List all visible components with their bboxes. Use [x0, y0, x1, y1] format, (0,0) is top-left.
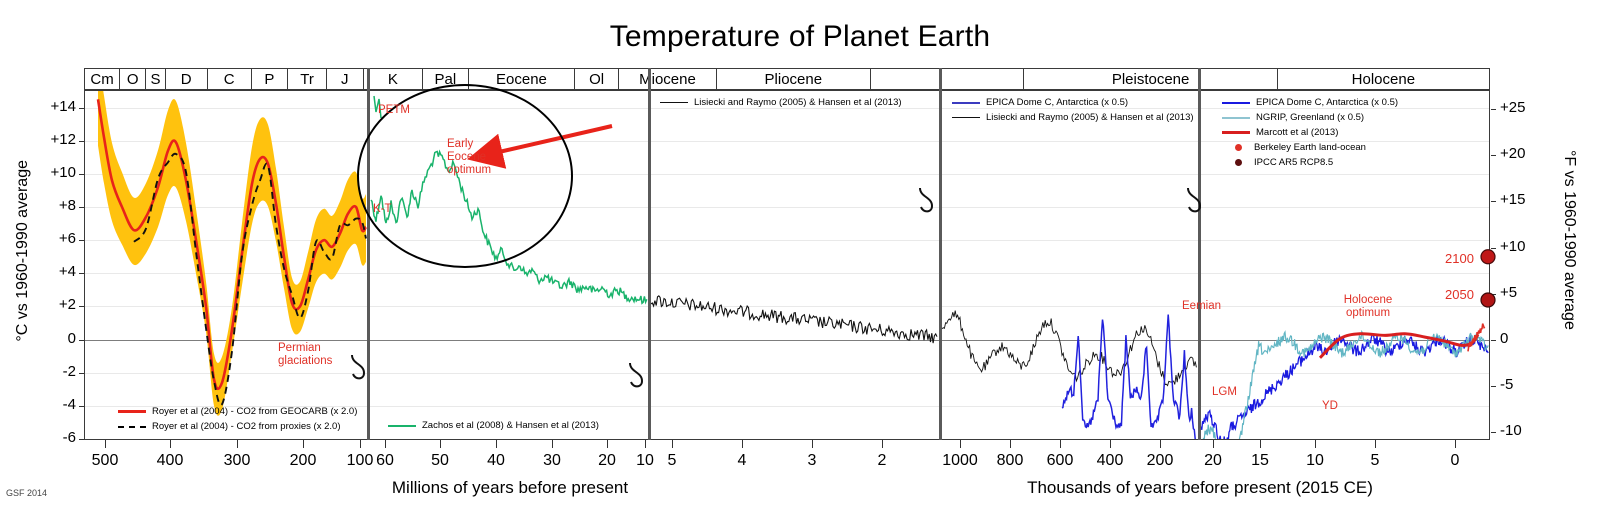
legend-item: Lisiecki and Raymo (2005) & Hansen et al… — [660, 96, 902, 109]
y-axis-left-title: °C vs 1960-1990 average — [14, 160, 32, 342]
x-tick-label: 2 — [859, 452, 905, 470]
y-tick-left: +6 — [30, 230, 76, 247]
y-tick-right: +5 — [1500, 284, 1550, 301]
gridline — [85, 240, 1489, 241]
tick-mark — [1491, 386, 1496, 387]
chart-root: Temperature of Planet Earth CmOSDCPTrJKP… — [0, 0, 1600, 516]
tick-mark — [79, 306, 84, 307]
legend-item: Marcott et al (2013) — [1222, 126, 1398, 139]
era-label-cm: Cm — [85, 69, 120, 89]
legend-item: Lisiecki and Raymo (2005) & Hansen et al… — [952, 111, 1194, 124]
y-tick-right: +20 — [1500, 145, 1550, 162]
x-tick-label: 600 — [1037, 452, 1083, 470]
tick-mark — [1315, 440, 1316, 448]
y-tick-left: +8 — [30, 197, 76, 214]
y-tick-left: -2 — [30, 363, 76, 380]
tick-mark — [1491, 155, 1496, 156]
y-tick-left: 0 — [30, 330, 76, 347]
legend-swatch-line-icon — [118, 410, 146, 413]
tick-mark — [1160, 440, 1161, 448]
tick-mark — [79, 108, 84, 109]
era-label-pleistocene: Pleistocene — [1024, 69, 1277, 89]
x-axis-label-right: Thousands of years before present (2015 … — [900, 478, 1500, 498]
tick-mark — [1491, 340, 1496, 341]
y-tick-right: -5 — [1500, 376, 1550, 393]
tick-mark — [79, 340, 84, 341]
era-label-o: O — [120, 69, 146, 89]
x-tick-label: 5 — [1352, 452, 1398, 470]
legend-swatch-line-icon — [952, 102, 980, 104]
tick-mark — [1213, 440, 1214, 448]
y-tick-left: +12 — [30, 131, 76, 148]
era-label-s: S — [146, 69, 165, 89]
tick-mark — [1375, 440, 1376, 448]
x-tick-label: 50 — [417, 452, 463, 470]
x-tick-label: 30 — [529, 452, 575, 470]
tick-mark — [1491, 248, 1496, 249]
x-tick-label: 0 — [1432, 452, 1478, 470]
legend-item: Zachos et al (2008) & Hansen et al (2013… — [388, 419, 599, 432]
legend-swatch-line-icon — [388, 425, 416, 427]
legend-label: Lisiecki and Raymo (2005) & Hansen et al… — [986, 111, 1194, 124]
panel-separator — [367, 68, 370, 440]
legend-label: Royer et al (2004) - CO2 from proxies (x… — [152, 420, 340, 433]
x-tick-label: 4 — [719, 452, 765, 470]
tick-mark — [496, 440, 497, 448]
tick-mark — [882, 440, 883, 448]
legend-swatch-dot-icon — [1235, 159, 1242, 166]
tick-mark — [1455, 440, 1456, 448]
gridline — [85, 207, 1489, 208]
legend-label: NGRIP, Greenland (x 0.5) — [1256, 111, 1364, 124]
tick-mark — [440, 440, 441, 448]
annotation-lgm: LGM — [1212, 386, 1237, 399]
annotation-projection-2100: 2100 — [1445, 252, 1474, 265]
tick-mark — [79, 406, 84, 407]
legend-swatch-line-icon — [1222, 117, 1250, 119]
tick-mark — [960, 440, 961, 448]
x-tick-label: 10 — [1292, 452, 1338, 470]
tick-mark — [552, 440, 553, 448]
era-label-pliocene: Pliocene — [717, 69, 871, 89]
zero-line — [85, 340, 1489, 341]
era-label-miocene: Miocene — [619, 69, 717, 89]
legend-cenozoic: Zachos et al (2008) & Hansen et al (2013… — [388, 419, 599, 434]
era-label-k: K — [364, 69, 423, 89]
gridline — [85, 273, 1489, 274]
y-tick-right: +15 — [1500, 191, 1550, 208]
y-tick-left: -6 — [30, 429, 76, 446]
y-tick-left: -4 — [30, 396, 76, 413]
era-spacer — [871, 69, 1025, 89]
tick-mark — [1491, 294, 1496, 295]
x-axis-label-left: Millions of years before present — [210, 478, 810, 498]
tick-mark — [105, 440, 106, 448]
page-title: Temperature of Planet Earth — [0, 20, 1600, 54]
panel-separator — [939, 68, 942, 440]
x-tick-label: 200 — [280, 452, 326, 470]
legend-item: EPICA Dome C, Antarctica (x 0.5) — [952, 96, 1194, 109]
x-tick-label: 200 — [1137, 452, 1183, 470]
era-label-holocene: Holocene — [1278, 69, 1489, 89]
legend-swatch-dot-icon — [1235, 144, 1242, 151]
era-label-d: D — [166, 69, 208, 89]
legend-label: EPICA Dome C, Antarctica (x 0.5) — [986, 96, 1128, 109]
tick-mark — [79, 439, 84, 440]
legend-pliocene: Lisiecki and Raymo (2005) & Hansen et al… — [660, 96, 902, 111]
tick-mark — [645, 440, 646, 448]
annotation-yd: YD — [1322, 400, 1338, 413]
tick-mark — [1491, 432, 1496, 433]
x-tick-label: 5 — [649, 452, 695, 470]
x-tick-label: 3 — [789, 452, 835, 470]
tick-mark — [1260, 440, 1261, 448]
gridline — [85, 306, 1489, 307]
era-label-tr: Tr — [288, 69, 327, 89]
legend-item: Royer et al (2004) - CO2 from GEOCARB (x… — [118, 405, 357, 418]
tick-mark — [79, 174, 84, 175]
tick-mark — [237, 440, 238, 448]
era-label-p: P — [252, 69, 289, 89]
era-label-j: J — [327, 69, 364, 89]
annotation-kt-boundary: K-T — [373, 203, 392, 216]
y-tick-right: +10 — [1500, 238, 1550, 255]
panel-separator — [648, 68, 651, 440]
annotation-holocene-optimum: Holocene optimum — [1341, 294, 1395, 320]
legend-pleistocene: EPICA Dome C, Antarctica (x 0.5) Lisieck… — [952, 96, 1194, 126]
x-tick-label: 500 — [82, 452, 128, 470]
tick-mark — [1110, 440, 1111, 448]
annotation-petm: PETM — [378, 104, 410, 117]
y-tick-left: +4 — [30, 263, 76, 280]
legend-swatch-dashed-icon — [118, 426, 146, 428]
legend-label: IPCC AR5 RCP8.5 — [1254, 156, 1333, 169]
legend-label: EPICA Dome C, Antarctica (x 0.5) — [1256, 96, 1398, 109]
legend-phanerozoic: Royer et al (2004) - CO2 from GEOCARB (x… — [118, 405, 357, 435]
x-tick-label: 15 — [1237, 452, 1283, 470]
legend-swatch-line-icon — [660, 102, 688, 103]
y-tick-left: +14 — [30, 98, 76, 115]
x-tick-label: 800 — [987, 452, 1033, 470]
legend-item: Royer et al (2004) - CO2 from proxies (x… — [118, 420, 357, 433]
y-axis-right-title: °F vs 1960-1990 average — [1560, 150, 1578, 330]
tick-mark — [79, 207, 84, 208]
annotation-permian-glaciations: Permian glaciations — [278, 342, 342, 368]
annotation-projection-2050: 2050 — [1445, 288, 1474, 301]
credit-text: GSF 2014 — [6, 488, 47, 498]
panel-separator — [1198, 68, 1201, 440]
tick-mark — [79, 273, 84, 274]
tick-mark — [607, 440, 608, 448]
legend-label: Berkeley Earth land-ocean — [1254, 141, 1366, 154]
era-label-c: C — [208, 69, 252, 89]
legend-swatch-line-icon — [952, 117, 980, 118]
y-tick-left: +2 — [30, 296, 76, 313]
tick-mark — [79, 373, 84, 374]
annotation-eemian: Eemian — [1182, 300, 1221, 313]
geologic-era-band: CmOSDCPTrJKPalEoceneOlMiocenePliocenePle… — [84, 68, 1490, 90]
tick-mark — [1010, 440, 1011, 448]
tick-mark — [79, 240, 84, 241]
legend-item: NGRIP, Greenland (x 0.5) — [1222, 111, 1398, 124]
legend-swatch-line-icon — [1222, 131, 1250, 134]
y-tick-right: 0 — [1500, 330, 1550, 347]
legend-item: EPICA Dome C, Antarctica (x 0.5) — [1222, 96, 1398, 109]
x-tick-label: 20 — [1190, 452, 1236, 470]
legend-item: IPCC AR5 RCP8.5 — [1222, 156, 1398, 169]
tick-mark — [742, 440, 743, 448]
tick-mark — [1491, 109, 1496, 110]
legend-label: Zachos et al (2008) & Hansen et al (2013… — [422, 419, 599, 432]
x-tick-label: 400 — [1087, 452, 1133, 470]
gridline — [85, 174, 1489, 175]
legend-label: Marcott et al (2013) — [1256, 126, 1338, 139]
tick-mark — [1491, 201, 1496, 202]
legend-label: Royer et al (2004) - CO2 from GEOCARB (x… — [152, 405, 357, 418]
x-tick-label: 40 — [473, 452, 519, 470]
x-tick-label: 60 — [362, 452, 408, 470]
tick-mark — [303, 440, 304, 448]
legend-label: Lisiecki and Raymo (2005) & Hansen et al… — [694, 96, 902, 109]
tick-mark — [672, 440, 673, 448]
legend-holocene: EPICA Dome C, Antarctica (x 0.5) NGRIP, … — [1222, 96, 1398, 171]
x-tick-label: 400 — [147, 452, 193, 470]
tick-mark — [79, 141, 84, 142]
legend-item: Berkeley Earth land-ocean — [1222, 141, 1398, 154]
y-tick-left: +10 — [30, 164, 76, 181]
tick-mark — [385, 440, 386, 448]
era-label-ol: Ol — [575, 69, 619, 89]
y-tick-right: +25 — [1500, 99, 1550, 116]
tick-mark — [360, 440, 361, 448]
tick-mark — [1060, 440, 1061, 448]
tick-mark — [170, 440, 171, 448]
gridline — [85, 373, 1489, 374]
tick-mark — [812, 440, 813, 448]
x-tick-label: 300 — [214, 452, 260, 470]
annotation-early-eocene-optimum: Early Eocene optimum — [447, 138, 503, 177]
y-tick-right: -10 — [1500, 422, 1550, 439]
x-tick-label: 1000 — [937, 452, 983, 470]
legend-swatch-line-icon — [1222, 102, 1250, 104]
